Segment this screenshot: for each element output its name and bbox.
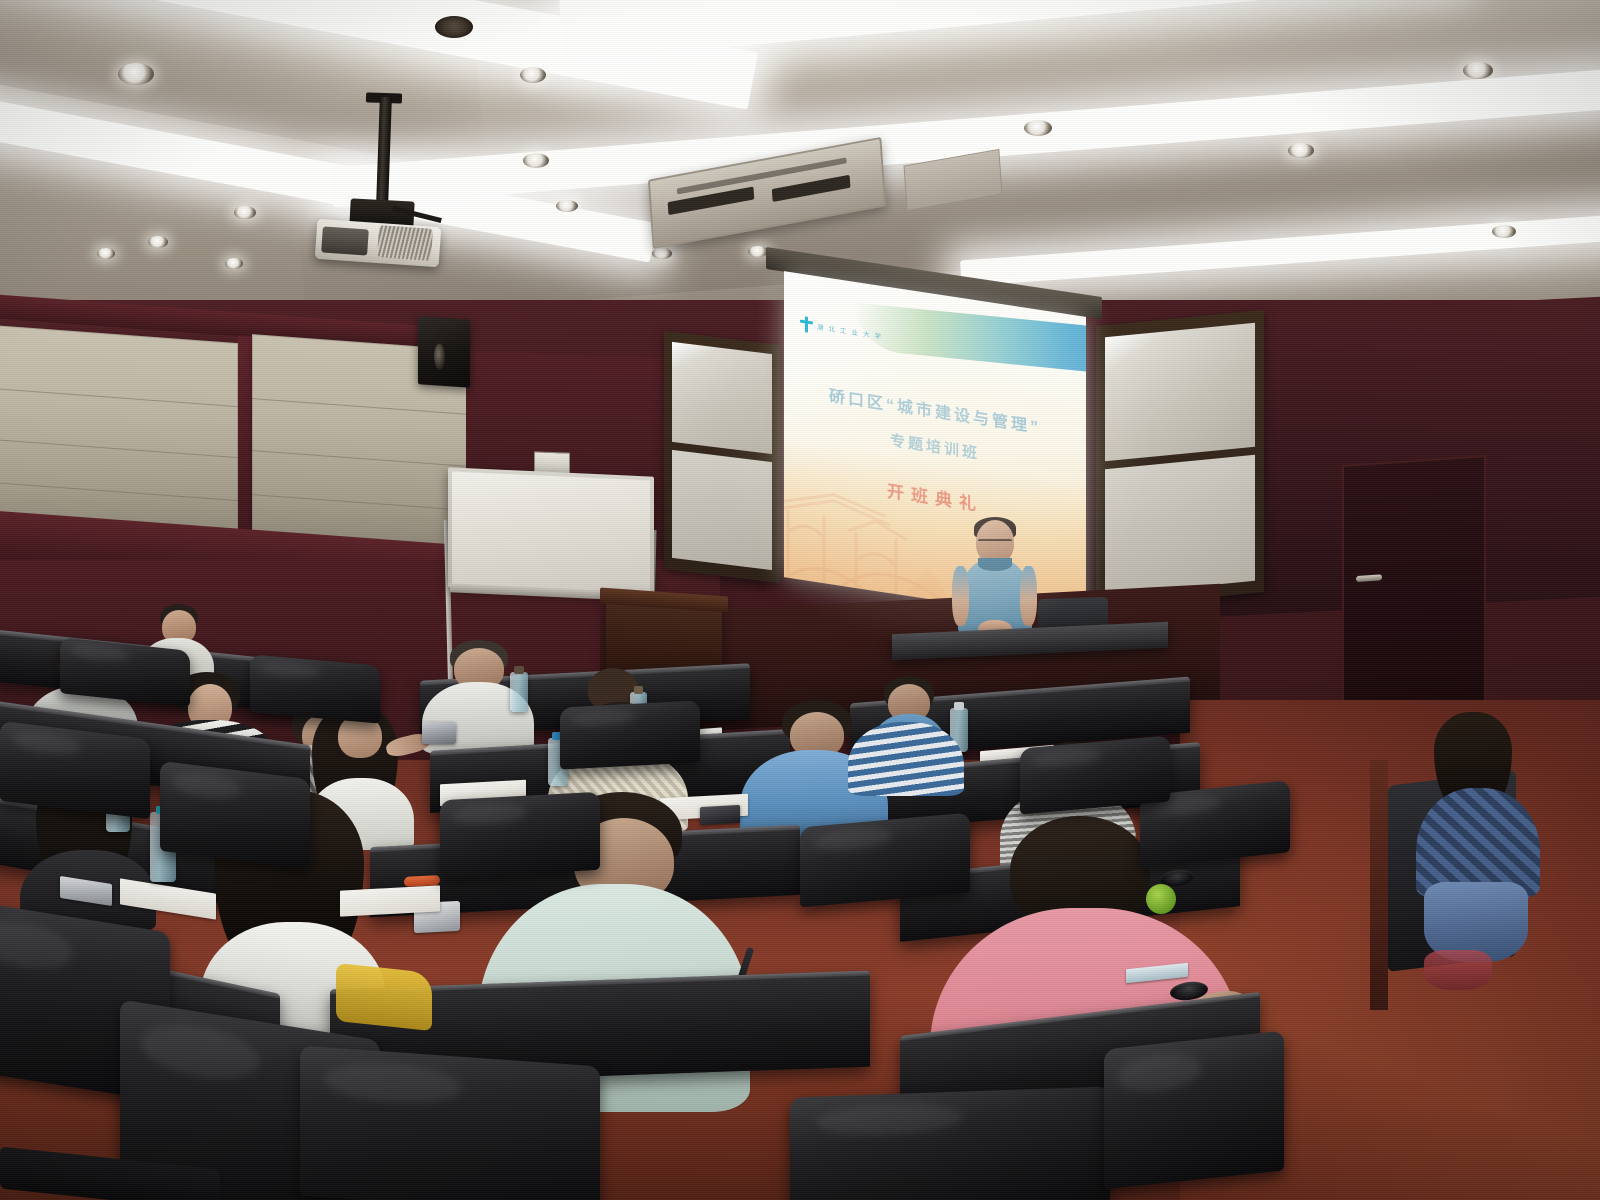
- presenter-arm-left: [952, 566, 969, 626]
- window-left: [664, 331, 780, 583]
- downlight-icon: [225, 258, 243, 269]
- chair[interactable]: [1020, 735, 1170, 814]
- window-right: [1096, 310, 1264, 608]
- chair[interactable]: [160, 761, 310, 869]
- bag-on-floor: [1424, 950, 1492, 990]
- slide-swoosh-graphic: [853, 302, 1086, 374]
- downlight-icon: [556, 200, 578, 212]
- chair[interactable]: [250, 654, 380, 723]
- glasses-icon: [978, 539, 1012, 547]
- projector-lens: [321, 226, 369, 255]
- slide-logo-icon: [800, 316, 813, 334]
- downlight-icon: [748, 246, 768, 257]
- side-rail: [1370, 760, 1388, 1010]
- downlight-icon: [435, 16, 473, 38]
- downlight-icon: [652, 248, 672, 259]
- yellow-bag: [336, 963, 432, 1031]
- chair[interactable]: [800, 813, 970, 908]
- wall-speaker-icon: [418, 316, 470, 388]
- downlight-icon: [523, 153, 549, 168]
- smartphone-camera[interactable]: [422, 722, 456, 744]
- downlight-icon: [148, 236, 168, 248]
- whiteboard-surface[interactable]: [452, 472, 650, 593]
- presenter-arm-right: [1020, 566, 1037, 626]
- downlight-icon: [118, 63, 154, 85]
- travel-mug: [510, 672, 528, 712]
- downlight-icon: [1288, 143, 1314, 158]
- door-handle-icon[interactable]: [1356, 574, 1382, 582]
- downlight-icon: [1024, 120, 1052, 136]
- green-light-flare: [1146, 884, 1176, 914]
- projection-screen: 湖 北 工 业 大 学 硚口区“城市建设与管理” 专题培训班 开班典礼: [784, 271, 1086, 623]
- chair[interactable]: [790, 1086, 1110, 1200]
- chair[interactable]: [560, 700, 700, 769]
- downlight-icon: [1463, 62, 1493, 79]
- wall-trim-vertical: [238, 335, 252, 542]
- downlight-icon: [1492, 225, 1516, 238]
- attendee-woman-plaid-shirt-right: [1406, 712, 1546, 942]
- downlight-icon: [97, 248, 115, 259]
- standing-presenter: [952, 520, 1038, 646]
- chair[interactable]: [440, 792, 600, 878]
- wall-panel: [0, 325, 238, 539]
- conference-room-photo: 湖 北 工 业 大 学 硚口区“城市建设与管理” 专题培训班 开班典礼: [0, 0, 1600, 1200]
- projector-grille: [377, 225, 433, 261]
- chair[interactable]: [300, 1046, 600, 1200]
- chair[interactable]: [1104, 1031, 1284, 1190]
- downlight-icon: [234, 206, 256, 219]
- presenter-collar: [978, 558, 1012, 571]
- orange-marker: [404, 875, 440, 887]
- door[interactable]: [1342, 455, 1486, 715]
- paper-notepad: [340, 885, 440, 916]
- attendee-man-striped-blue-shirt: [848, 686, 966, 794]
- whiteboard[interactable]: [448, 467, 654, 596]
- downlight-icon: [520, 67, 546, 83]
